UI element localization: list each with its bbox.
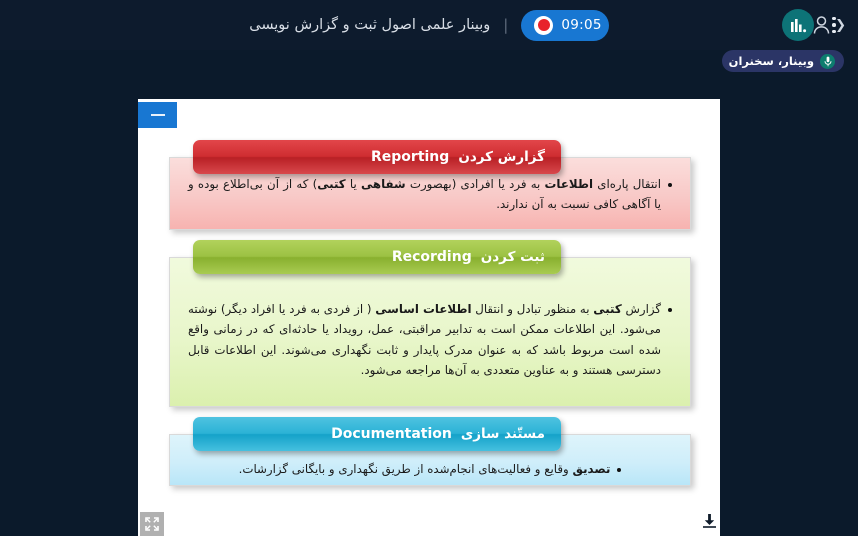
speaker-badge-label: وبینار، سخنران <box>729 54 814 68</box>
bar-chart-logo-icon[interactable] <box>782 9 814 41</box>
app-root: 09:05 | وبینار علمی اصول ثبت و گزارش نوی… <box>0 0 858 536</box>
section-title-fa: گزارش کردن <box>458 149 545 165</box>
bullet-row: تصدیق وقایع و فعالیت‌های انجام‌شده از طر… <box>188 459 672 479</box>
section-title-fa: ثبت کردن <box>481 249 545 265</box>
section-header-documentation: مستّند سازی Documentation <box>193 417 561 451</box>
reporting-body-text: انتقال پاره‌ای اطلاعات به فرد یا افرادی … <box>188 174 661 215</box>
microphone-icon <box>820 54 835 69</box>
user-account-icon <box>812 15 831 35</box>
top-bar: 09:05 | وبینار علمی اصول ثبت و گزارش نوی… <box>0 0 858 50</box>
section-title-fa: مستّند سازی <box>461 426 545 442</box>
recording-body-text: گزارش کتبی به منظور تبادل و انتقال اطلاع… <box>188 299 661 380</box>
fullscreen-button[interactable] <box>140 512 164 536</box>
documentation-body-text: تصدیق وقایع و فعالیت‌های انجام‌شده از طر… <box>239 459 611 479</box>
topbar-center-group: 09:05 | وبینار علمی اصول ثبت و گزارش نوی… <box>0 0 858 50</box>
section-header-recording: ثبت کردن Recording <box>193 240 561 274</box>
slide-section-recording: گزارش کتبی به منظور تبادل و انتقال اطلاع… <box>138 240 720 417</box>
section-header-reporting: گزارش کردن Reporting <box>193 140 561 174</box>
download-icon <box>702 513 717 529</box>
recording-timer-pill[interactable]: 09:05 <box>521 10 608 41</box>
section-title-en: Reporting <box>371 149 449 165</box>
section-title-en: Recording <box>392 249 472 265</box>
section-body-recording: گزارش کتبی به منظور تبادل و انتقال اطلاع… <box>169 257 691 407</box>
fullscreen-expand-icon <box>145 517 159 531</box>
bullet-dot-icon <box>668 183 672 187</box>
bullet-dot-icon <box>617 468 621 472</box>
slide-section-documentation: تصدیق وقایع و فعالیت‌های انجام‌شده از طر… <box>138 417 720 497</box>
minimize-slide-button[interactable] <box>138 102 177 128</box>
bullet-row: انتقال پاره‌ای اطلاعات به فرد یا افرادی … <box>188 174 672 215</box>
webinar-title: وبینار علمی اصول ثبت و گزارش نویسی <box>249 17 490 33</box>
speaker-role-badge[interactable]: وبینار، سخنران <box>722 50 844 72</box>
presentation-slide: انتقال پاره‌ای اطلاعات به فرد یا افرادی … <box>138 99 720 536</box>
download-slide-button[interactable] <box>697 509 721 533</box>
record-dot-icon <box>534 16 553 35</box>
chevron-left-icon: ❮ <box>835 19 846 32</box>
bullet-row: گزارش کتبی به منظور تبادل و انتقال اطلاع… <box>188 299 672 380</box>
bullet-dot-icon <box>668 308 672 312</box>
slide-stage: انتقال پاره‌ای اطلاعات به فرد یا افرادی … <box>138 99 720 536</box>
slide-section-reporting: انتقال پاره‌ای اطلاعات به فرد یا افرادی … <box>138 140 720 240</box>
section-title-en: Documentation <box>331 426 452 442</box>
minimize-dash-icon <box>151 114 165 116</box>
topbar-separator: | <box>503 16 508 34</box>
user-account-button[interactable]: ❮ <box>812 0 846 50</box>
recording-time: 09:05 <box>561 17 601 33</box>
